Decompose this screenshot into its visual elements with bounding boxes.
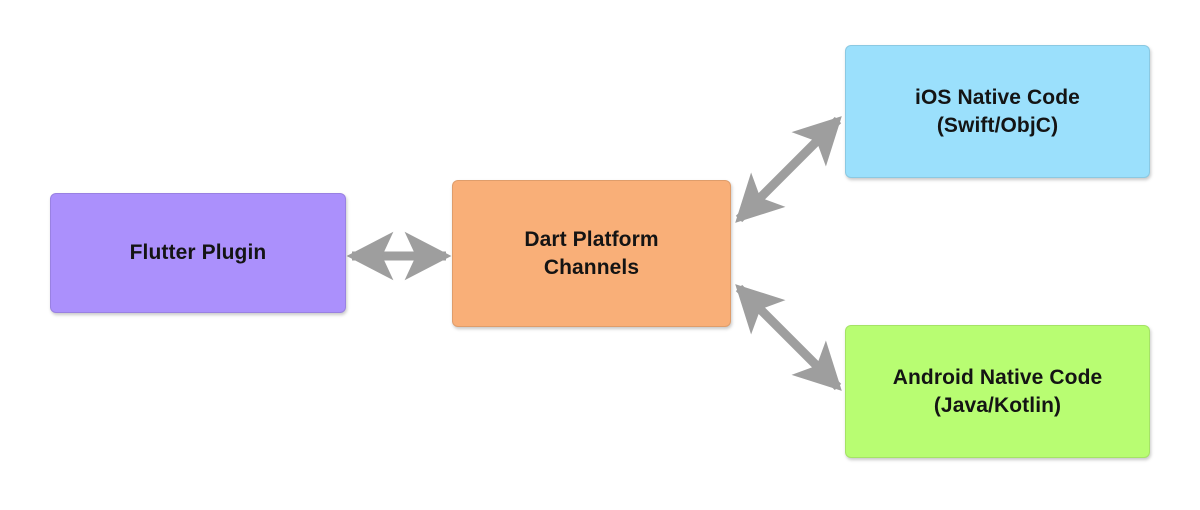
node-android-native-code[interactable]: Android Native Code (Java/Kotlin) bbox=[845, 325, 1150, 458]
node-flutter-plugin-label: Flutter Plugin bbox=[120, 239, 277, 266]
node-android-native-code-label: Android Native Code (Java/Kotlin) bbox=[883, 364, 1113, 419]
node-flutter-plugin[interactable]: Flutter Plugin bbox=[50, 193, 346, 313]
connector-channels-to-ios bbox=[739, 120, 838, 219]
connector-channels-to-android bbox=[739, 288, 838, 387]
node-ios-native-code-label: iOS Native Code (Swift/ObjC) bbox=[905, 84, 1090, 139]
node-dart-platform-channels[interactable]: Dart Platform Channels bbox=[452, 180, 731, 327]
node-ios-native-code[interactable]: iOS Native Code (Swift/ObjC) bbox=[845, 45, 1150, 178]
node-dart-platform-channels-label: Dart Platform Channels bbox=[514, 226, 668, 281]
diagram-canvas: Flutter Plugin Dart Platform Channels iO… bbox=[0, 0, 1200, 510]
